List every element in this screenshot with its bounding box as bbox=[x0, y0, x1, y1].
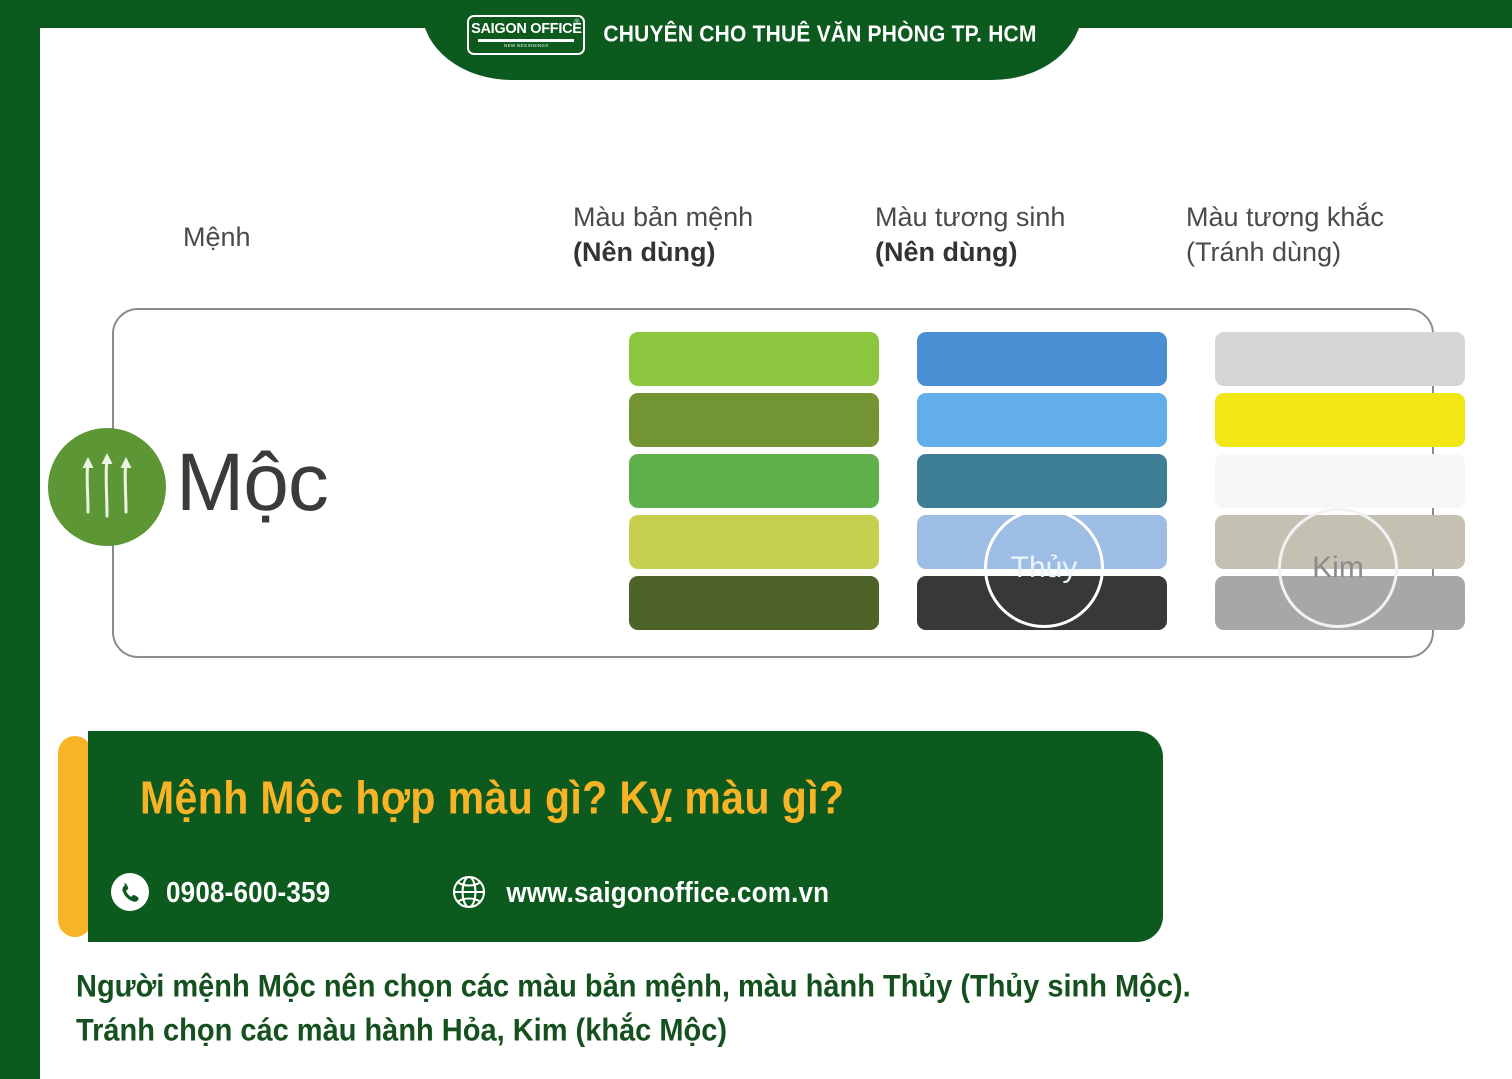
wood-element-badge bbox=[48, 428, 166, 546]
swatch-ban-menh-5 bbox=[629, 576, 879, 630]
caption-line-1: Người mệnh Mộc nên chọn các màu bản mệnh… bbox=[76, 965, 1456, 1009]
page-right-border bbox=[1472, 0, 1512, 1079]
chart-column-headers: Mệnh Màu bản mệnh (Nên dùng) Màu tương s… bbox=[40, 190, 1472, 290]
header-band-right-fill bbox=[1040, 0, 1512, 28]
swatch-column-tuong-khac bbox=[1215, 332, 1465, 630]
column-header-tuong-khac: Màu tương khắc (Tránh dùng) bbox=[1186, 200, 1384, 269]
page-left-border bbox=[0, 0, 40, 1079]
swatch-tuong-khac-5 bbox=[1215, 576, 1465, 630]
element-label-moc: Mộc bbox=[176, 442, 328, 532]
header-content: ® SAIGON OFFICE NEW BEGINNINGS CHUYÊN CH… bbox=[422, 0, 1082, 70]
column-header-menh: Mệnh bbox=[183, 220, 251, 255]
logo-divider bbox=[478, 39, 574, 42]
element-cell-moc: Mộc bbox=[48, 402, 508, 572]
column-header-tuong-sinh: Màu tương sinh (Nên dùng) bbox=[875, 200, 1065, 269]
three-up-arrows-icon bbox=[48, 428, 166, 546]
infographic-page: ® SAIGON OFFICE NEW BEGINNINGS CHUYÊN CH… bbox=[0, 0, 1512, 1079]
swatch-ban-menh-1 bbox=[629, 332, 879, 386]
globe-icon bbox=[448, 871, 490, 913]
swatch-tuong-sinh-2 bbox=[917, 393, 1167, 447]
phone-number: 0908-600-359 bbox=[166, 875, 330, 909]
caption-text: Người mệnh Mộc nên chọn các màu bản mệnh… bbox=[76, 965, 1456, 1054]
swatch-ban-menh-3 bbox=[629, 454, 879, 508]
swatch-tuong-khac-3 bbox=[1215, 454, 1465, 508]
swatch-column-ban-menh bbox=[629, 332, 879, 630]
header-tagline: CHUYÊN CHO THUÊ VĂN PHÒNG TP. HCM bbox=[603, 22, 1036, 49]
header-band-left-fill bbox=[0, 0, 470, 28]
registered-mark-icon: ® bbox=[574, 19, 579, 26]
logo-subtitle: NEW BEGINNINGS bbox=[504, 44, 549, 48]
contact-website[interactable]: www.saigonoffice.com.vn bbox=[448, 871, 829, 913]
saigon-office-logo: ® SAIGON OFFICE NEW BEGINNINGS bbox=[467, 15, 585, 55]
banner-accent-bar bbox=[58, 736, 92, 937]
swatch-tuong-khac-2 bbox=[1215, 393, 1465, 447]
column-header-ban-menh: Màu bản mệnh (Nên dùng) bbox=[573, 200, 753, 269]
caption-line-2: Tránh chọn các màu hành Hỏa, Kim (khắc M… bbox=[76, 1009, 1456, 1053]
swatch-tuong-sinh-4 bbox=[917, 515, 1167, 569]
swatch-tuong-khac-4 bbox=[1215, 515, 1465, 569]
title-banner: Mệnh Mộc hợp màu gì? Kỵ màu gì? 0908-600… bbox=[58, 731, 1163, 942]
website-url: www.saigonoffice.com.vn bbox=[506, 875, 829, 909]
banner-contacts: 0908-600-359 www.saigonoffice.com.vn bbox=[110, 871, 829, 913]
color-chart: Mệnh Màu bản mệnh (Nên dùng) Màu tương s… bbox=[40, 80, 1472, 710]
swatch-tuong-sinh-3 bbox=[917, 454, 1167, 508]
swatch-tuong-khac-1 bbox=[1215, 332, 1465, 386]
banner-title: Mệnh Mộc hợp màu gì? Kỵ màu gì? bbox=[140, 773, 1163, 824]
swatch-ban-menh-4 bbox=[629, 515, 879, 569]
contact-phone[interactable]: 0908-600-359 bbox=[110, 872, 330, 912]
phone-icon bbox=[110, 872, 150, 912]
swatch-tuong-sinh-5 bbox=[917, 576, 1167, 630]
logo-wordmark: SAIGON OFFICE bbox=[471, 22, 582, 37]
swatch-tuong-sinh-1 bbox=[917, 332, 1167, 386]
swatch-ban-menh-2 bbox=[629, 393, 879, 447]
swatch-column-tuong-sinh bbox=[917, 332, 1167, 630]
